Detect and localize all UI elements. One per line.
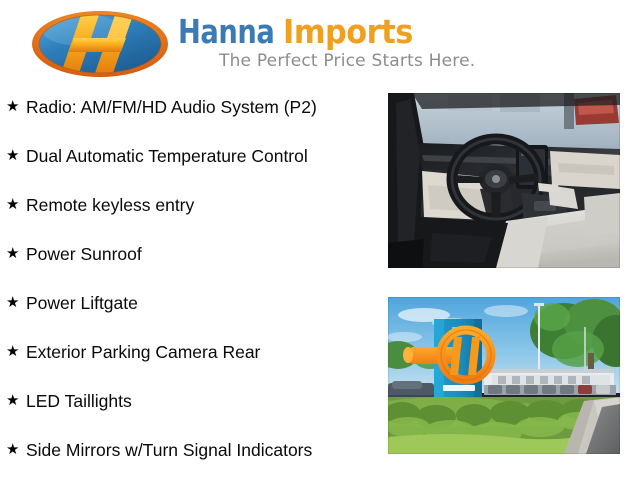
- star-bullet-icon: ★: [6, 241, 26, 267]
- brand-tagline: The Perfect Price Starts Here.: [219, 50, 519, 72]
- feature-label: Side Mirrors w/Turn Signal Indicators: [26, 437, 312, 463]
- list-item: ★ Remote keyless entry: [6, 192, 194, 218]
- list-item: ★ Exterior Parking Camera Rear: [6, 339, 260, 365]
- vehicle-interior-photo: [388, 93, 620, 268]
- star-bullet-icon: ★: [6, 192, 26, 218]
- list-item: ★ Radio: AM/FM/HD Audio System (P2): [6, 94, 317, 120]
- feature-label: LED Taillights: [26, 388, 132, 414]
- list-item: ★ Dual Automatic Temperature Control: [6, 143, 308, 169]
- star-bullet-icon: ★: [6, 290, 26, 316]
- feature-label: Exterior Parking Camera Rear: [26, 339, 260, 365]
- star-bullet-icon: ★: [6, 339, 26, 365]
- star-bullet-icon: ★: [6, 143, 26, 169]
- feature-label: Dual Automatic Temperature Control: [26, 143, 308, 169]
- vehicle-features-list: ★ Radio: AM/FM/HD Audio System (P2) ★ Du…: [0, 90, 382, 480]
- star-bullet-icon: ★: [6, 94, 26, 120]
- feature-label: Power Sunroof: [26, 241, 142, 267]
- feature-label: Radio: AM/FM/HD Audio System (P2): [26, 94, 317, 120]
- star-bullet-icon: ★: [6, 437, 26, 463]
- feature-label: Remote keyless entry: [26, 192, 194, 218]
- feature-label: Power Liftgate: [26, 290, 138, 316]
- list-item: ★ LED Taillights: [6, 388, 132, 414]
- star-bullet-icon: ★: [6, 388, 26, 414]
- list-item: ★ Side Mirrors w/Turn Signal Indicators: [6, 437, 312, 463]
- hanna-oval-h-emblem-icon: [30, 10, 170, 78]
- page-header: HannaImports The Perfect Price Starts He…: [0, 0, 640, 90]
- list-item: ★ Power Liftgate: [6, 290, 138, 316]
- dealership-exterior-photo: [388, 297, 620, 454]
- brand-wordmark: HannaImports: [178, 14, 518, 50]
- list-item: ★ Power Sunroof: [6, 241, 142, 267]
- brand-wordmark-hanna: Hanna: [178, 14, 274, 50]
- brand-wordmark-imports: Imports: [283, 14, 413, 50]
